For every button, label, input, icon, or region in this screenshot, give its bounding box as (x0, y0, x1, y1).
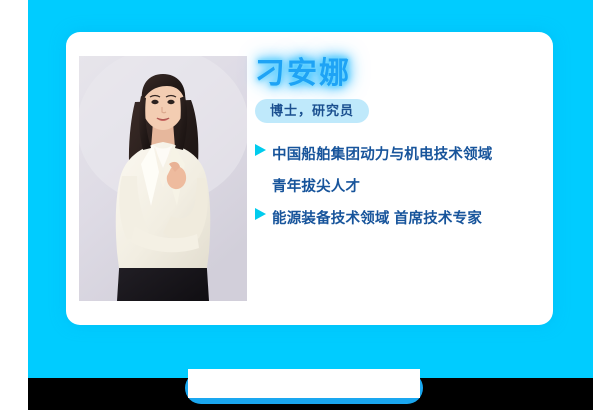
triangle-right-icon (255, 140, 272, 156)
profile-card: 刁安娜 博士，研究员 中国船舶集团动力与机电技术领域 (66, 32, 553, 325)
list-item: 中国船舶集团动力与机电技术领域 (255, 140, 545, 171)
list-item: 能源装备技术领域 首席技术专家 (255, 204, 545, 235)
profile-info: 刁安娜 博士，研究员 中国船舶集团动力与机电技术领域 (255, 58, 545, 236)
degree-badge: 博士，研究员 (255, 99, 369, 124)
credential-text: 中国船舶集团动力与机电技术领域 (272, 140, 493, 171)
person-name: 刁安娜 (255, 58, 545, 90)
credential-list: 中国船舶集团动力与机电技术领域 青年拔尖人才 (255, 140, 545, 235)
credential-text: 青年拔尖人才 (272, 172, 360, 203)
portrait-photo (79, 56, 247, 301)
credential-text: 能源装备技术领域 首席技术专家 (272, 204, 482, 235)
list-item: 青年拔尖人才 (255, 172, 545, 203)
footer-white-mask (188, 369, 420, 398)
triangle-right-icon (255, 204, 272, 220)
cyan-stage-panel: 刁安娜 博士，研究员 中国船舶集团动力与机电技术领域 (28, 0, 593, 378)
